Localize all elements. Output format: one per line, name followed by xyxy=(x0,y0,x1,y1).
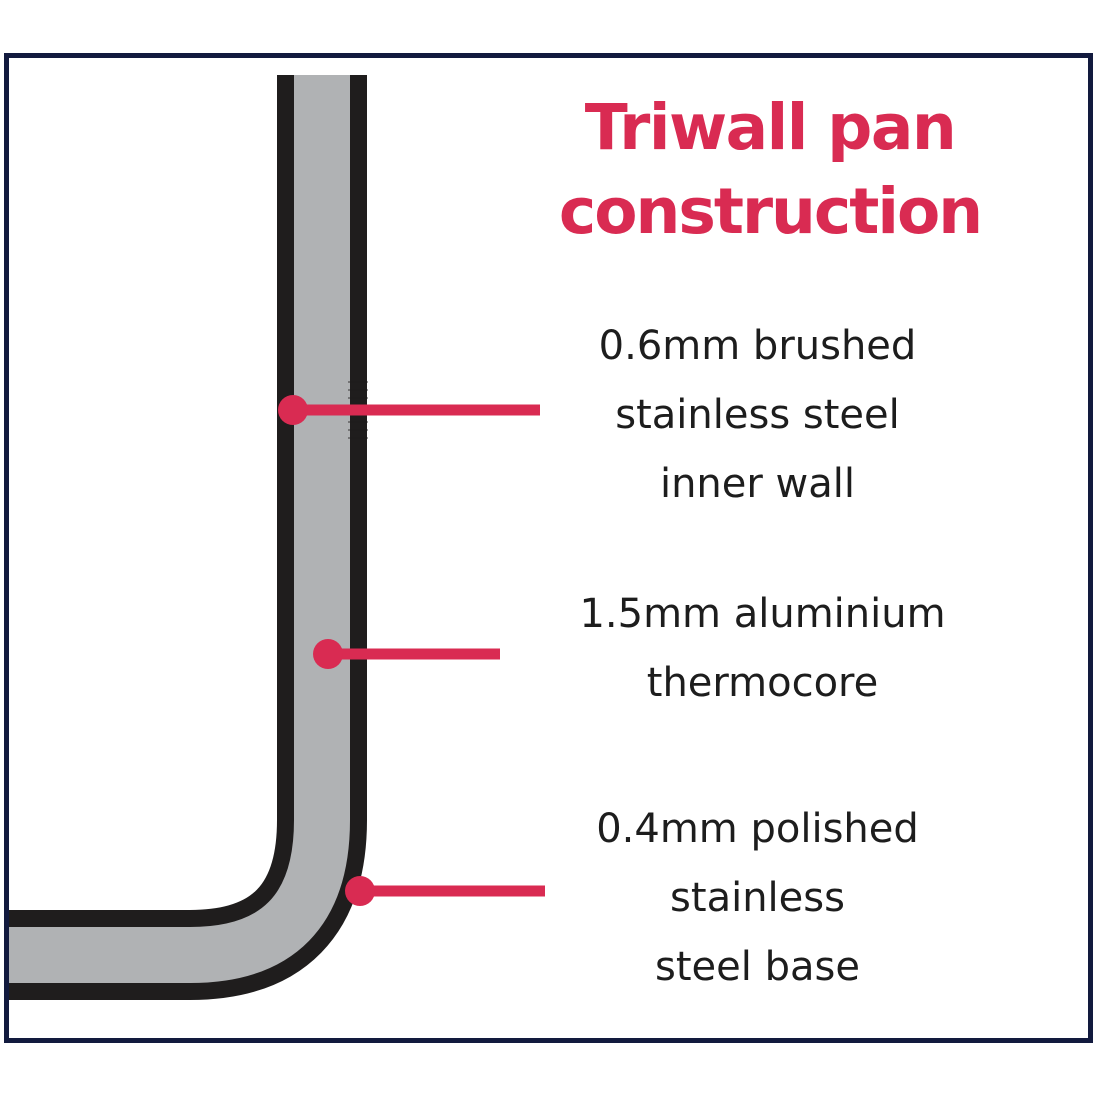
callout-label-inner-wall-line-1: 0.6mm brushed xyxy=(515,312,1000,381)
callout-dot-thermocore xyxy=(313,639,343,669)
title-line-1: Triwall pan xyxy=(500,86,1040,170)
callout-label-inner-wall-line-2: stainless steel xyxy=(515,381,1000,450)
callout-label-thermocore: 1.5mm aluminium thermocore xyxy=(510,580,1015,718)
callout-label-thermocore-line-2: thermocore xyxy=(510,649,1015,718)
callout-label-base-line-3: steel base xyxy=(525,933,990,1002)
diagram-title: Triwall pan construction xyxy=(500,86,1040,254)
callout-label-inner-wall: 0.6mm brushed stainless steel inner wall xyxy=(515,312,1000,519)
callout-dot-inner-wall xyxy=(278,395,308,425)
aluminium-thermocore-layer xyxy=(9,75,322,955)
outer-dark-layer xyxy=(9,75,322,955)
callout-label-inner-wall-line-3: inner wall xyxy=(515,450,1000,519)
callout-leader-base xyxy=(345,876,545,906)
callout-label-thermocore-line-1: 1.5mm aluminium xyxy=(510,580,1015,649)
callout-dot-base xyxy=(345,876,375,906)
callout-label-base-line-1: 0.4mm polished xyxy=(525,795,990,864)
diagram-canvas: Triwall pan construction 0.6mm brushed s… xyxy=(0,0,1100,1100)
callout-label-base: 0.4mm polished stainless steel base xyxy=(525,795,990,1002)
title-line-2: construction xyxy=(500,170,1040,254)
callout-label-base-line-2: stainless xyxy=(525,864,990,933)
